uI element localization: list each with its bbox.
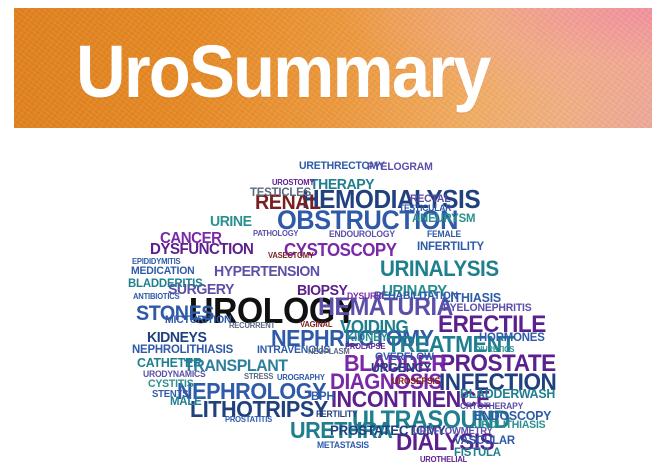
brand-title: UroSummary	[76, 35, 490, 109]
cloud-word: Prolapse	[345, 341, 385, 352]
cloud-word: Endourology	[329, 226, 395, 239]
cloud-word: Vasectomy	[268, 250, 314, 261]
cloud-word: UROLITHIASIS	[474, 420, 545, 431]
cloud-word: Recurrent	[229, 318, 275, 330]
cloud-word: TESTICULAR	[399, 204, 451, 213]
cloud-word: Diuretics	[475, 342, 514, 354]
cloud-word: Urostomy	[272, 175, 314, 187]
cloud-word: Female	[427, 226, 461, 239]
cloud-word: PYELOGRAM	[367, 162, 433, 173]
cloud-word: ANEURYSM	[412, 212, 475, 224]
cloud-word: Pathology	[253, 226, 298, 238]
cloud-word: Neoplasm	[308, 344, 350, 356]
cloud-word: REHABILITATION	[374, 291, 458, 302]
cloud-word: MICTURITION	[165, 315, 231, 326]
cloud-word: Stress	[244, 371, 273, 382]
cloud-word: ANTIBIOTICS	[133, 289, 179, 301]
cloud-word: BPH	[311, 390, 335, 402]
cloud-word: THERAPY	[310, 172, 374, 193]
cloud-word: DYSURIA	[347, 292, 384, 301]
cloud-word: Metastasis	[317, 437, 369, 450]
cloud-word: CATHETER	[137, 356, 202, 369]
header-banner: UroSummary	[14, 8, 652, 128]
cloud-word: FISTULA	[454, 446, 501, 458]
cloud-word: Fertility	[316, 406, 358, 419]
cloud-word: INFERTILITY	[417, 240, 484, 252]
cloud-word: BLADDERITIS	[128, 277, 203, 289]
cloud-word: MALE	[170, 395, 202, 407]
cloud-word: NEPHROLITHIASIS	[132, 343, 233, 355]
cloud-word: UROSEPSIS	[392, 377, 440, 386]
cloud-word: URGENCY	[371, 361, 431, 374]
word-cloud: UROLOGYHEMODIALYSISOBSTRUCTIONCystoscopy…	[0, 140, 666, 473]
cloud-word: PROSTATITIS	[225, 414, 272, 425]
cloud-word: Cancer	[160, 224, 222, 247]
cloud-word: Vaginal	[300, 317, 332, 329]
cloud-word: MEDICATION	[131, 266, 195, 277]
cloud-word: EPIDIDYMITIS	[132, 254, 180, 266]
cloud-word: Biopsy	[297, 277, 347, 299]
cloud-word: Urography	[277, 370, 325, 382]
cloud-word: PYELONEPHRITIS	[443, 303, 532, 314]
